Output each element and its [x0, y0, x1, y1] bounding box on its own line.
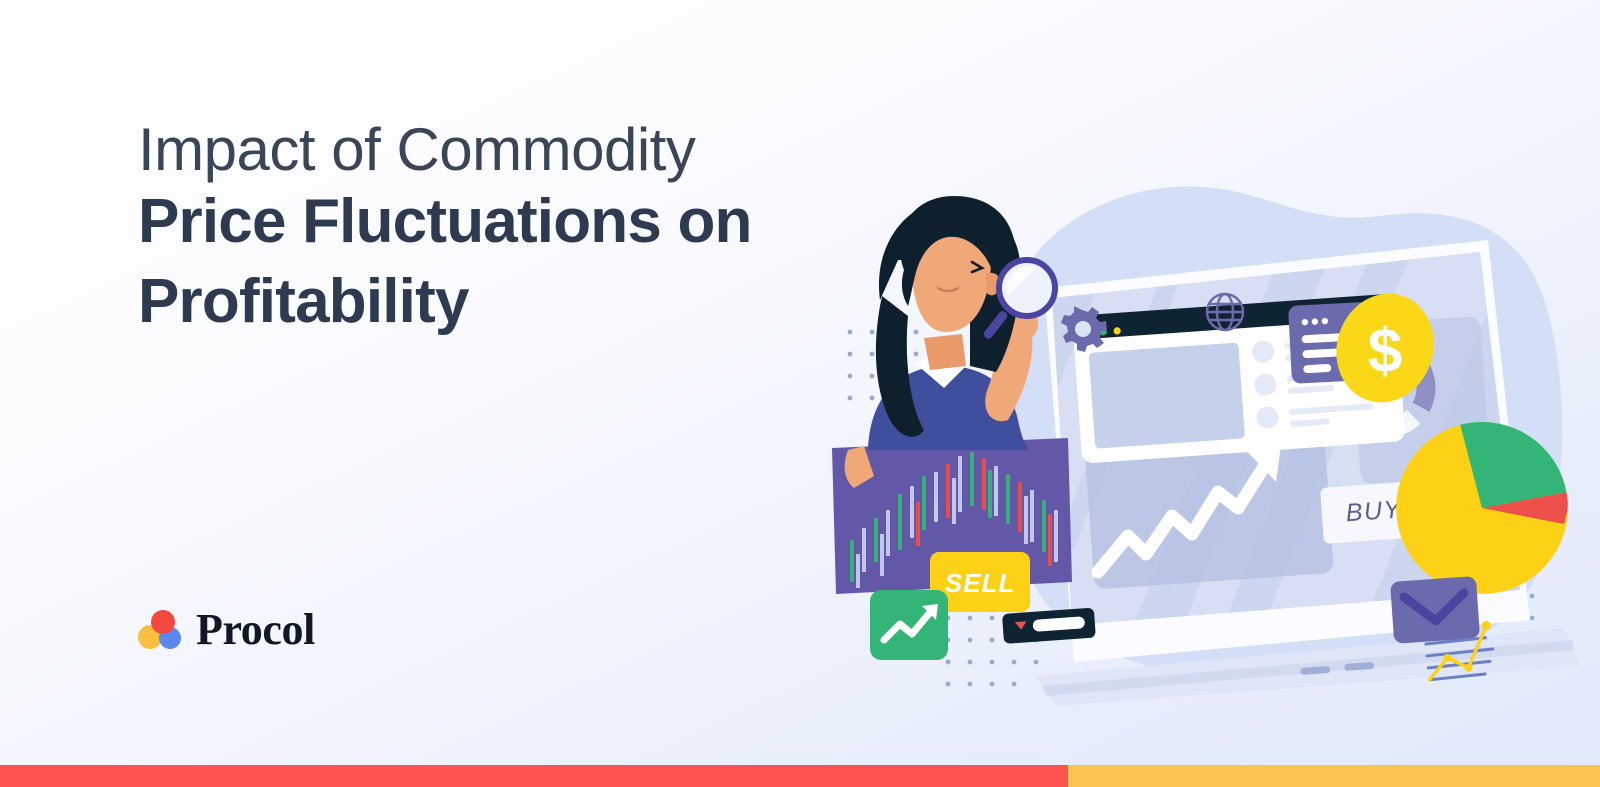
bottom-color-bar: [0, 765, 1600, 787]
envelope-icon: [1390, 576, 1480, 644]
procol-logo-mark-icon: [138, 610, 182, 650]
pie-chart: [1396, 421, 1568, 594]
bottom-bar-left-segment: [0, 765, 1068, 787]
procol-wordmark: Procol: [196, 604, 315, 655]
woman-character: [845, 196, 1038, 488]
procol-logo[interactable]: Procol: [138, 604, 315, 655]
page-title-line-2: Price Fluctuations on: [138, 182, 898, 261]
banner-canvas: Impact of Commodity Price Fluctuations o…: [0, 0, 1600, 787]
logo-dot-red-icon: [151, 610, 175, 634]
scanner-pill: [1002, 608, 1096, 644]
hero-illustration: BUY: [820, 120, 1600, 730]
page-title-line-3: Profitability: [138, 262, 898, 341]
dollar-symbol: $: [1368, 317, 1402, 386]
green-trend-card: [870, 590, 948, 660]
headline-block: Impact of Commodity Price Fluctuations o…: [138, 118, 898, 341]
bottom-bar-right-segment: [1068, 765, 1600, 787]
buy-button-label: BUY: [1345, 495, 1404, 527]
sell-badge-label: SELL: [945, 568, 1015, 598]
page-title-line-1: Impact of Commodity: [138, 118, 898, 182]
